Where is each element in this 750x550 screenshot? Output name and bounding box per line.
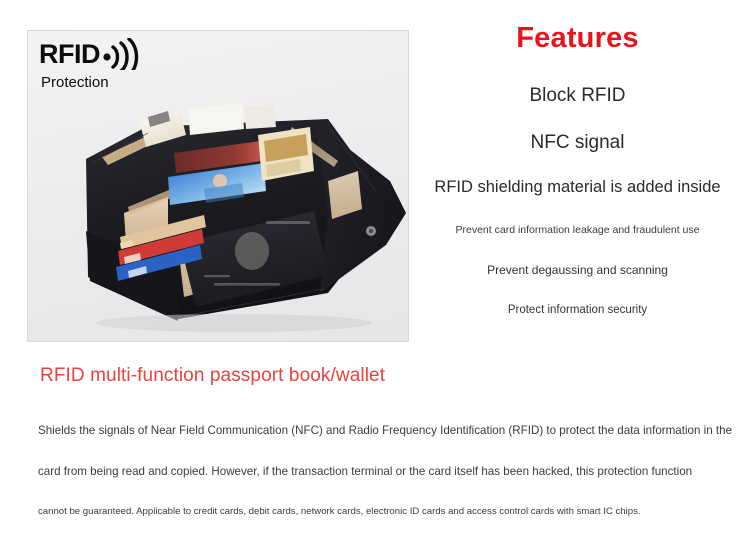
features-heading: Features xyxy=(415,22,740,55)
feature-item-5: Prevent degaussing and scanning xyxy=(415,263,740,277)
description-line-1: Shields the signals of Near Field Commun… xyxy=(38,425,728,437)
badge-brand-text: RFID xyxy=(39,41,100,68)
feature-item-3: RFID shielding material is added inside xyxy=(415,178,740,198)
rfid-protection-badge: RFID Protection xyxy=(39,38,169,100)
product-title: RFID multi-function passport book/wallet xyxy=(40,365,385,388)
feature-item-2: NFC signal xyxy=(415,132,740,155)
features-panel: Features Block RFID NFC signal RFID shie… xyxy=(415,22,740,319)
feature-item-4: Prevent card information leakage and fra… xyxy=(415,224,740,237)
product-photo: RFID Protection xyxy=(27,30,409,342)
product-description: Shields the signals of Near Field Commun… xyxy=(38,425,728,517)
rfid-wave-icon xyxy=(102,38,140,70)
badge-subtitle: Protection xyxy=(41,75,169,90)
description-line-2: card from being read and copied. However… xyxy=(38,466,728,478)
description-line-3: cannot be guaranteed. Applicable to cred… xyxy=(38,507,728,517)
feature-item-6: Protect information security xyxy=(415,304,740,318)
badge-top-row: RFID xyxy=(39,38,169,70)
feature-item-1: Block RFID xyxy=(415,85,740,108)
